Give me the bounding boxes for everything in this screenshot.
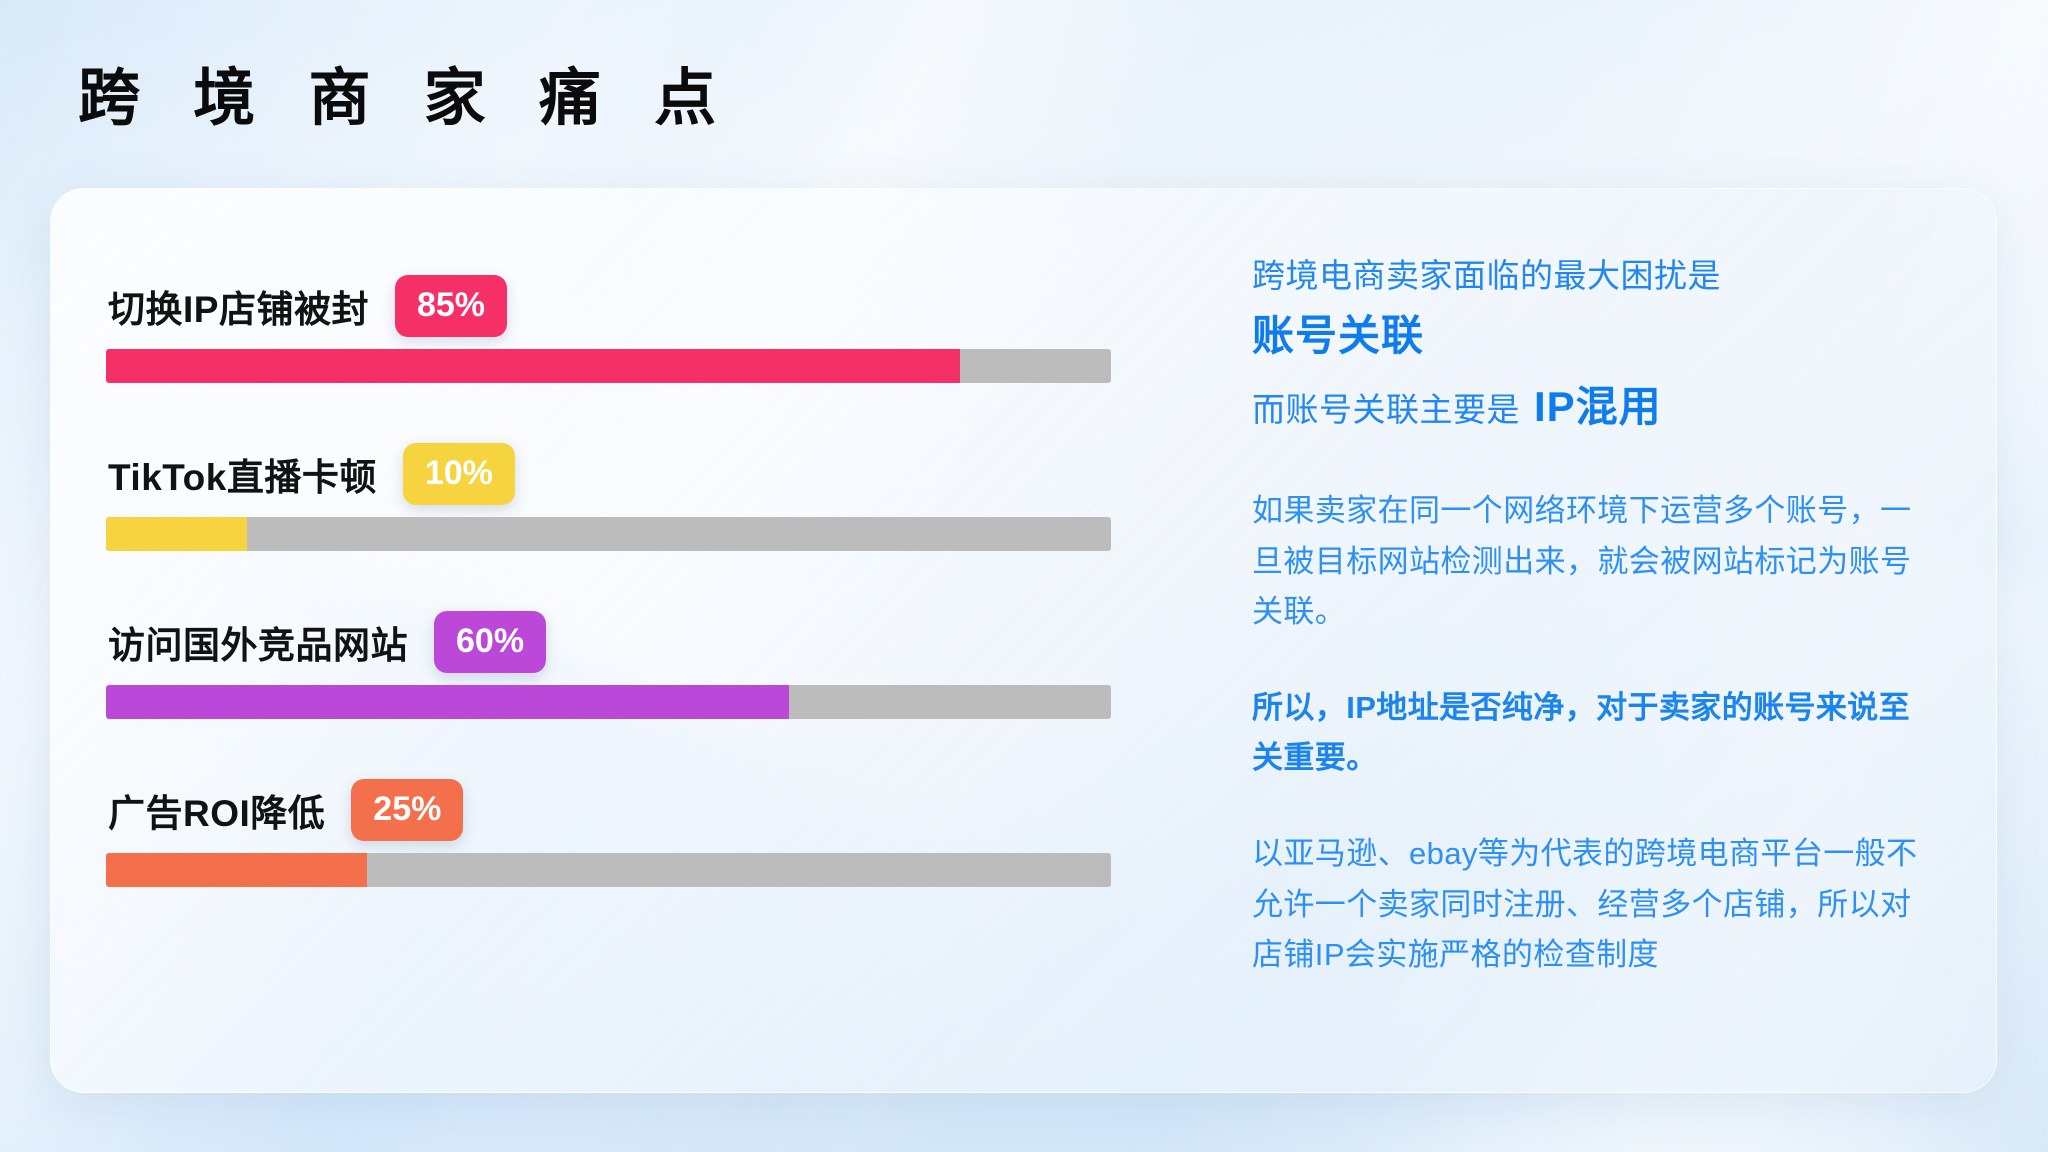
lead-keyword: 账号关联 [1252, 305, 1926, 367]
bar-track [106, 517, 1111, 551]
pain-point-bar-chart: 切换IP店铺被封 85% TikTok直播卡顿 10% 访问国外竞品网站 60% [51, 189, 1206, 1092]
bar-header: TikTok直播卡顿 10% [106, 431, 1206, 517]
bar-track [106, 853, 1111, 887]
lead-secondary-prefix: 而账号关联主要是 [1252, 391, 1520, 428]
bar-row: 广告ROI降低 25% [106, 767, 1206, 935]
page-title: 跨 境 商 家 痛 点 [78, 68, 734, 130]
bar-header: 访问国外竞品网站 60% [106, 599, 1206, 685]
bar-fill [106, 517, 247, 551]
bar-track [106, 685, 1111, 719]
lead-line: 跨境电商卖家面临的最大困扰是 [1252, 251, 1926, 301]
bar-fill [106, 349, 960, 383]
bar-label: 切换IP店铺被封 [108, 279, 369, 333]
bar-label: 广告ROI降低 [108, 783, 325, 837]
bar-label: 访问国外竞品网站 [108, 615, 408, 669]
bar-track [106, 349, 1111, 383]
bar-row: TikTok直播卡顿 10% [106, 431, 1206, 599]
lead-secondary-line: 而账号关联主要是IP混用 [1252, 375, 1926, 438]
bar-label: TikTok直播卡顿 [108, 447, 377, 501]
paragraph-association: 如果卖家在同一个网络环境下运营多个账号，一旦被目标网站检测出来，就会被网站标记为… [1252, 486, 1926, 637]
lead-secondary-keyword: IP混用 [1534, 383, 1662, 430]
content-card: 切换IP店铺被封 85% TikTok直播卡顿 10% 访问国外竞品网站 60% [50, 188, 1997, 1093]
paragraph-platform-policy: 以亚马逊、ebay等为代表的跨境电商平台一般不允许一个卖家同时注册、经营多个店铺… [1252, 829, 1926, 980]
bar-fill [106, 685, 789, 719]
bar-row: 切换IP店铺被封 85% [106, 263, 1206, 431]
bar-value-badge: 60% [434, 611, 546, 673]
bar-header: 广告ROI降低 25% [106, 767, 1206, 853]
bar-fill [106, 853, 367, 887]
bar-header: 切换IP店铺被封 85% [106, 263, 1206, 349]
bar-row: 访问国外竞品网站 60% [106, 599, 1206, 767]
bar-value-badge: 10% [403, 443, 515, 505]
bar-value-badge: 25% [351, 779, 463, 841]
bar-value-badge: 85% [395, 275, 507, 337]
explanation-panel: 跨境电商卖家面临的最大困扰是 账号关联 而账号关联主要是IP混用 如果卖家在同一… [1206, 189, 1996, 1092]
paragraph-ip-purity: 所以，IP地址是否纯净，对于卖家的账号来说至关重要。 [1252, 683, 1926, 783]
